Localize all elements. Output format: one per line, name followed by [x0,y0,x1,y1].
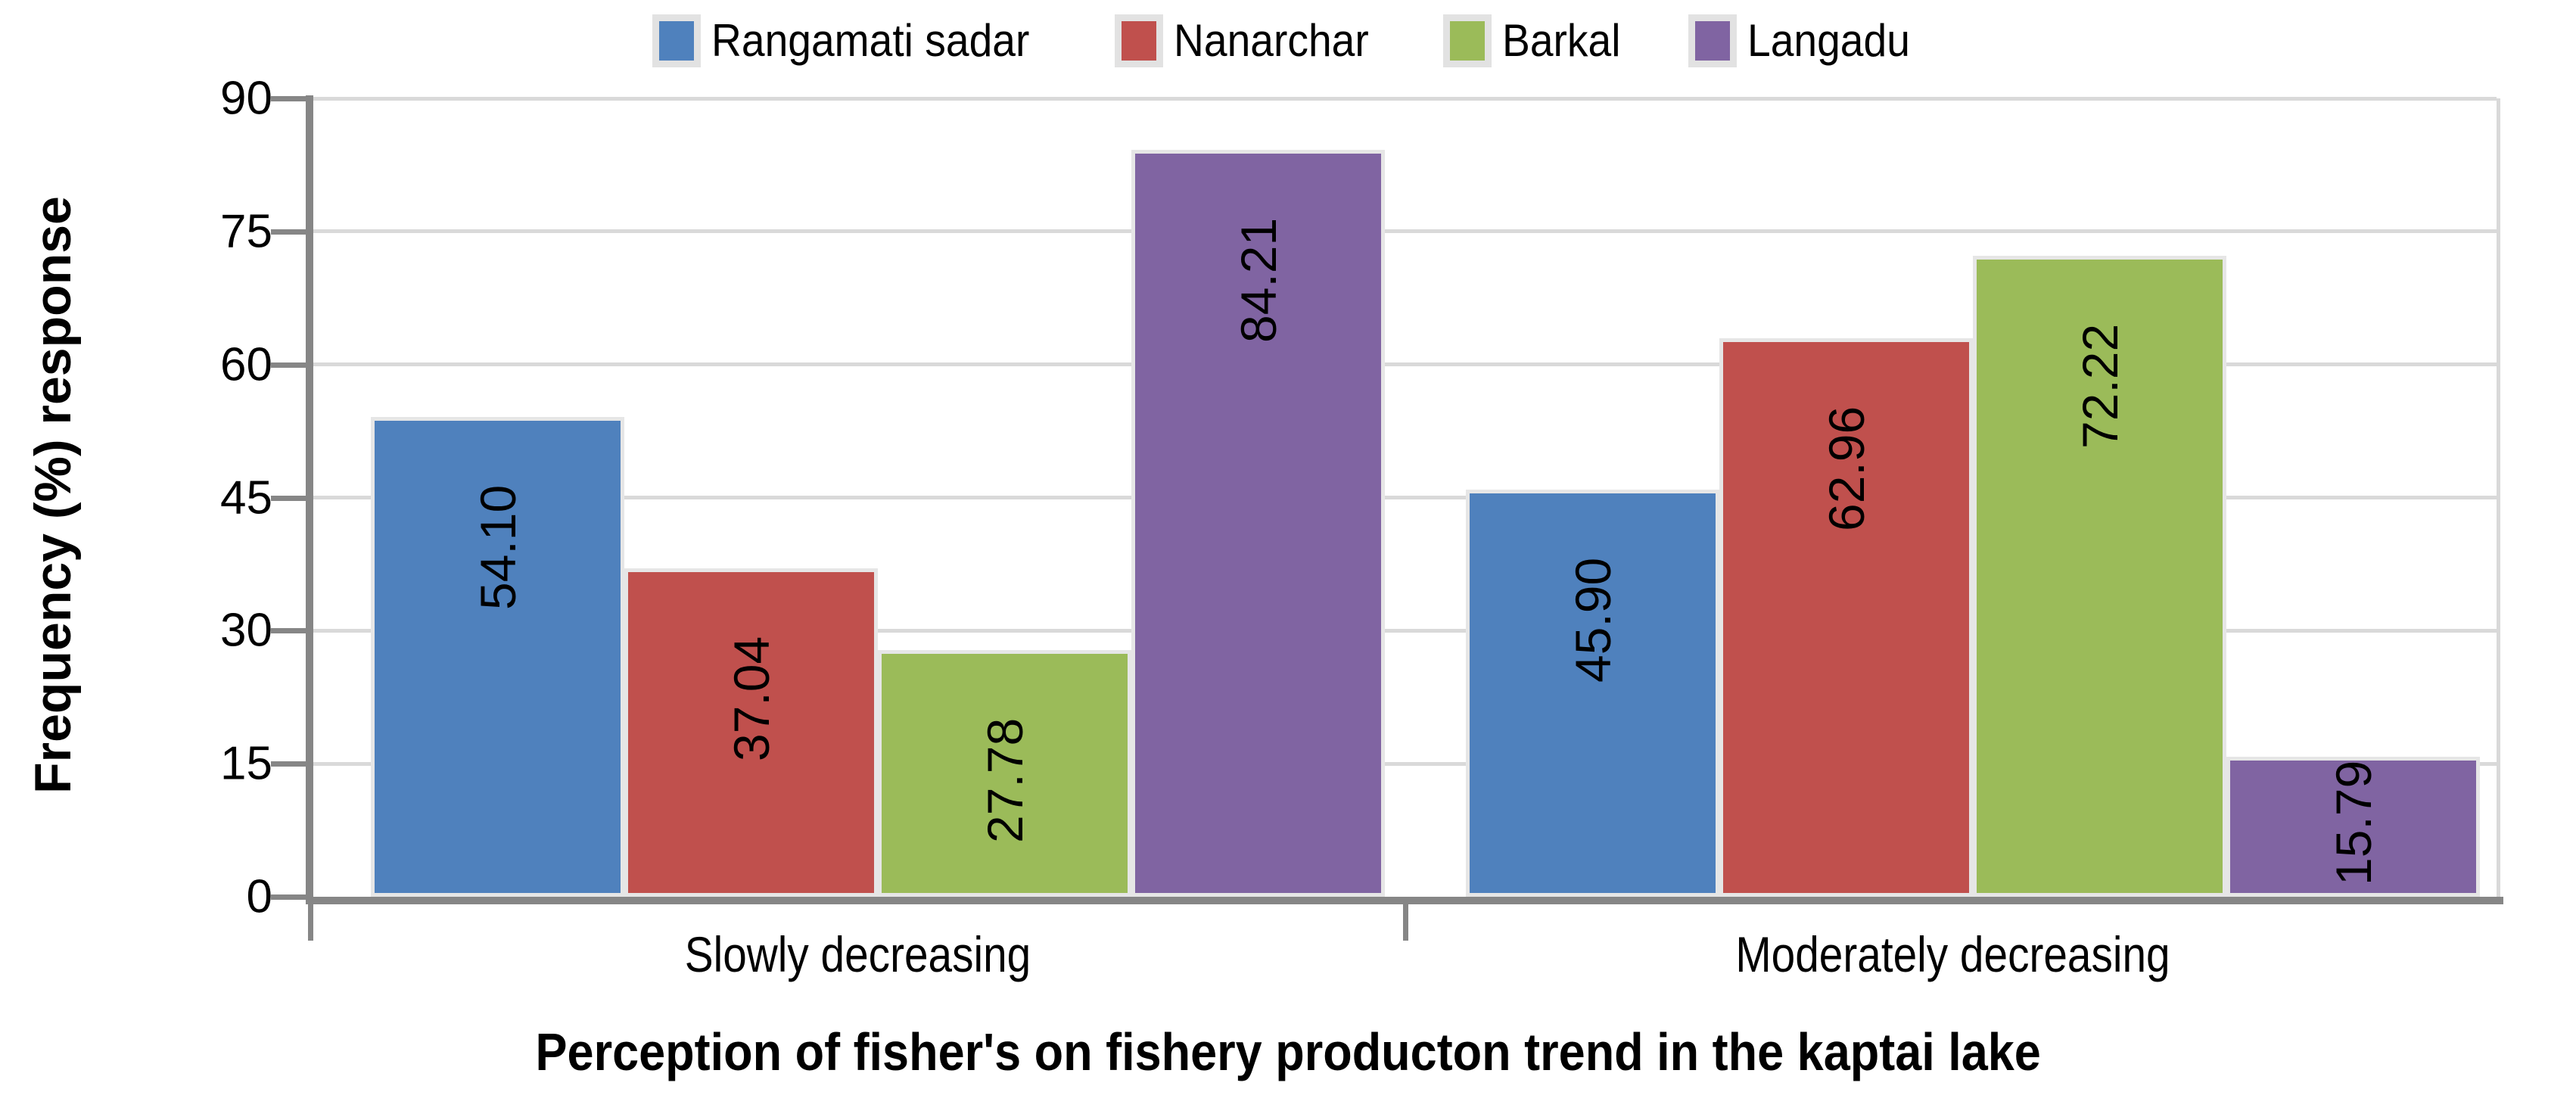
bar-value-label: 62.96 [1822,406,1871,531]
x-axis-category-label: Slowly decreasing [387,929,1328,979]
bar-value-label: 54.10 [473,485,523,610]
legend-swatch-icon [1115,14,1163,67]
bar[interactable]: 62.96 [1719,338,1973,897]
gridline [310,97,2497,101]
bar-value-label: 84.21 [1234,218,1283,343]
legend-swatch-icon [652,14,701,67]
legend-label: Langadu [1747,18,1910,64]
x-axis-tick-mark [308,904,313,941]
legend-item[interactable]: Barkal [1443,14,1631,67]
x-axis-category-label: Moderately decreasing [1482,929,2423,979]
y-axis-tick-mark [271,628,307,633]
legend-swatch-icon [1443,14,1492,67]
y-axis-tick-mark [271,362,307,368]
bar-value-label: 15.79 [2329,761,2378,885]
y-axis-tick-mark [271,96,307,101]
y-axis-tick-label: 75 [220,204,272,258]
bar[interactable]: 84.21 [1131,150,1385,897]
x-axis-line [306,897,2503,904]
bar[interactable]: 15.79 [2226,757,2480,897]
legend-label: Barkal [1502,18,1620,64]
y-axis-tick-label: 45 [220,471,272,524]
y-axis-title: Frequency (%) response [27,79,79,911]
y-axis-tick-mark [271,761,307,767]
bar-value-label: 37.04 [726,636,776,761]
y-axis-tick-mark [271,229,307,235]
x-axis-tick-mark [1403,904,1408,941]
y-axis-tick-label: 90 [220,72,272,126]
bar[interactable]: 45.90 [1466,490,1719,897]
chart-legend: Rangamati sadarNanarcharBarkalLangadu [0,11,2576,71]
bar[interactable]: 37.04 [624,568,878,897]
bar[interactable]: 72.22 [1973,256,2226,897]
legend-item[interactable]: Langadu [1688,14,1924,67]
y-axis-tick-mark [271,894,307,900]
bar-value-label: 45.90 [1568,558,1618,683]
legend-item[interactable]: Rangamati sadar [652,14,1057,67]
y-axis-tick-label: 60 [220,338,272,391]
y-axis-tick-label: 15 [220,737,272,791]
bar-value-label: 27.78 [980,718,1030,843]
y-axis-tick-label: 0 [247,870,272,924]
y-axis-tick-labels: 0153045607590 [136,98,272,897]
legend-label: Nanarchar [1174,18,1369,64]
bar-value-label: 72.22 [2075,324,2125,449]
y-axis-tick-mark [271,496,307,501]
bar-chart-figure: Rangamati sadarNanarcharBarkalLangadu Fr… [0,0,2576,1120]
legend-label: Rangamati sadar [711,18,1029,64]
x-axis-title-text: Perception of fisher's on fishery produc… [535,1025,2040,1078]
legend-swatch-icon [1688,14,1737,67]
plot-area: 54.1037.0427.7884.2145.9062.9672.2215.79 [310,98,2500,897]
y-axis-tick-label: 30 [220,604,272,658]
gridline [310,229,2497,233]
bar[interactable]: 54.10 [371,417,624,897]
bar[interactable]: 27.78 [878,650,1131,897]
legend-item[interactable]: Nanarchar [1115,14,1386,67]
x-axis-title: Perception of fisher's on fishery produc… [0,1025,2576,1078]
